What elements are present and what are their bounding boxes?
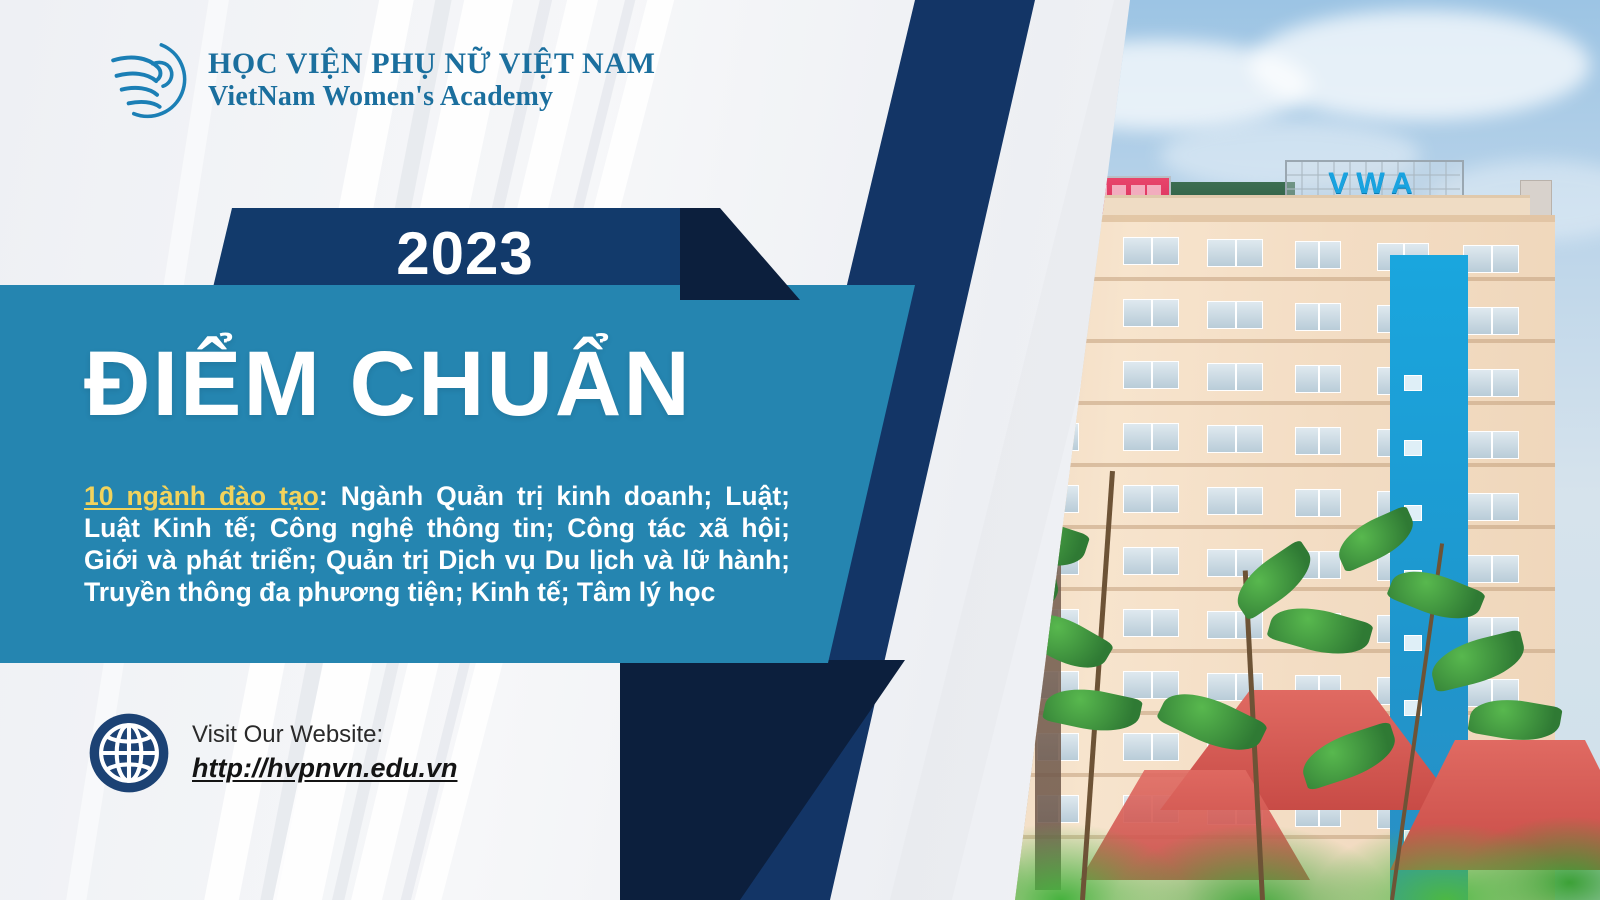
programs-count-highlight: 10 ngành đào tạo (84, 481, 319, 511)
website-url-link[interactable]: http://hvpnvn.edu.vn (192, 750, 457, 786)
brand-name-vi: HỌC VIỆN PHỤ NỮ VIỆT NAM (208, 48, 656, 80)
website-text-block: Visit Our Website: http://hvpnvn.edu.vn (192, 719, 457, 787)
poster-canvas: VWA (0, 0, 1600, 900)
globe-icon (88, 712, 170, 794)
year-label: 2023 (210, 208, 720, 300)
cloud (1250, 10, 1590, 120)
brand-name-block: HỌC VIỆN PHỤ NỮ VIỆT NAM VietNam Women's… (208, 48, 656, 113)
programs-paragraph: 10 ngành đào tạo: Ngành Quản trị kinh do… (84, 480, 790, 608)
brand-name-en: VietNam Women's Academy (208, 80, 656, 114)
brand-logo: HỌC VIỆN PHỤ NỮ VIỆT NAM VietNam Women's… (108, 38, 656, 124)
programs-separator: : (319, 481, 341, 511)
page-title: ĐIỂM CHUẨN (84, 338, 692, 430)
website-footer[interactable]: Visit Our Website: http://hvpnvn.edu.vn (88, 712, 457, 794)
dove-wing-circle-logo-icon (108, 38, 194, 124)
visit-website-label: Visit Our Website: (192, 719, 457, 750)
